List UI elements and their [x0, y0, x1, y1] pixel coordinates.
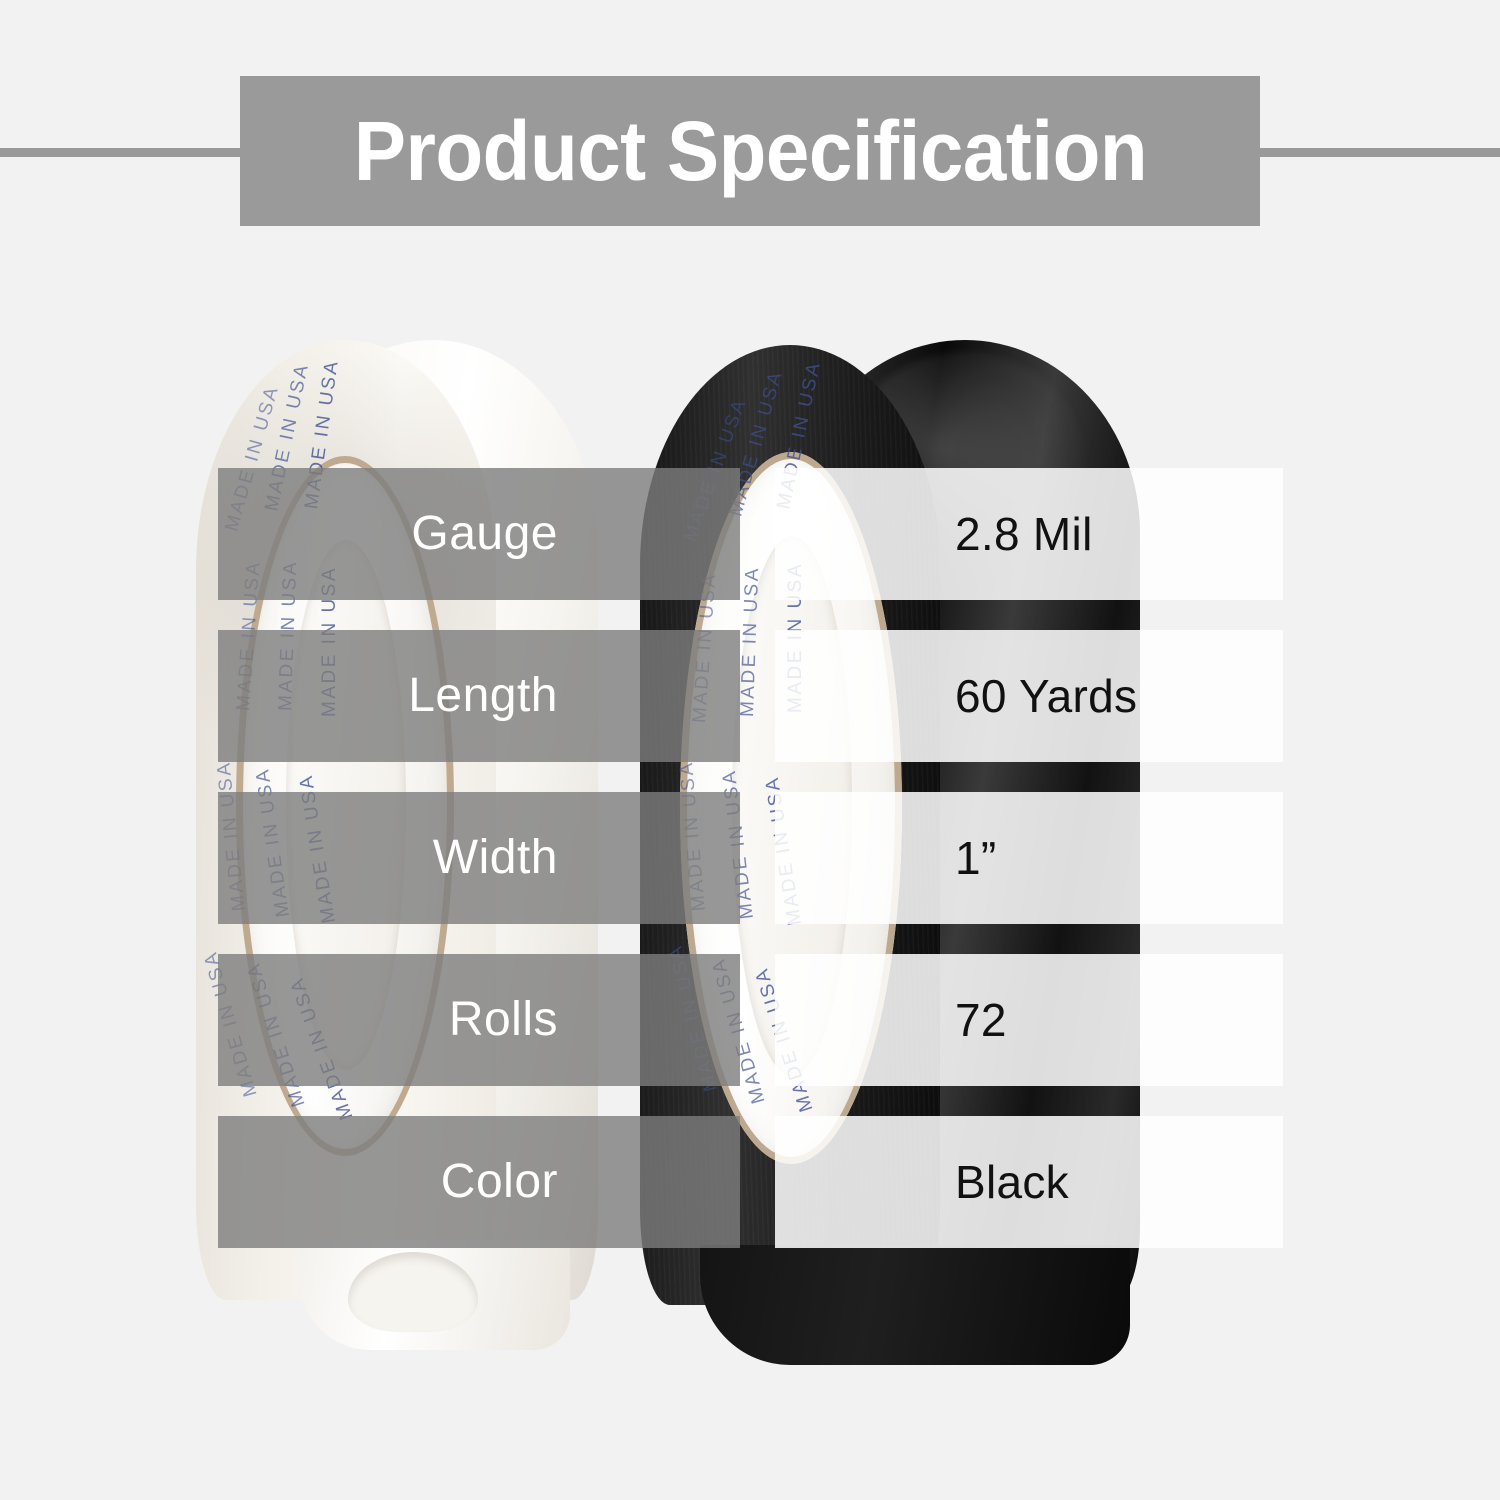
spec-label-color: Color	[441, 1158, 558, 1206]
spec-value-rolls-cell: 72	[775, 954, 1283, 1086]
spec-value-color: Black	[955, 1159, 1069, 1205]
spec-value-rolls: 72	[955, 997, 1007, 1043]
spec-row-rolls: Rolls 72	[0, 954, 1500, 1086]
product-specification-page: MADE IN USAMADE IN USAMADE IN USAMADE IN…	[0, 0, 1500, 1500]
spec-label-length-cell: Length	[218, 630, 740, 762]
spec-row-width: Width 1”	[0, 792, 1500, 924]
spec-value-gauge-cell: 2.8 Mil	[775, 468, 1283, 600]
spec-row-gauge: Gauge 2.8 Mil	[0, 468, 1500, 600]
spec-row-color: Color Black	[0, 1116, 1500, 1248]
spec-label-color-cell: Color	[218, 1116, 740, 1248]
spec-value-width: 1”	[955, 835, 997, 881]
spec-label-width: Width	[433, 834, 558, 882]
spec-label-gauge-cell: Gauge	[218, 468, 740, 600]
spec-label-rolls: Rolls	[449, 996, 558, 1044]
spec-value-length: 60 Yards	[955, 673, 1137, 719]
spec-value-gauge: 2.8 Mil	[955, 511, 1093, 557]
spec-value-color-cell: Black	[775, 1116, 1283, 1248]
specification-table: Gauge 2.8 Mil Length 60 Yards Width 1”	[0, 0, 1500, 1500]
spec-value-length-cell: 60 Yards	[775, 630, 1283, 762]
spec-label-rolls-cell: Rolls	[218, 954, 740, 1086]
spec-label-length: Length	[408, 672, 558, 720]
spec-value-width-cell: 1”	[775, 792, 1283, 924]
spec-label-gauge: Gauge	[411, 510, 558, 558]
spec-label-width-cell: Width	[218, 792, 740, 924]
spec-row-length: Length 60 Yards	[0, 630, 1500, 762]
